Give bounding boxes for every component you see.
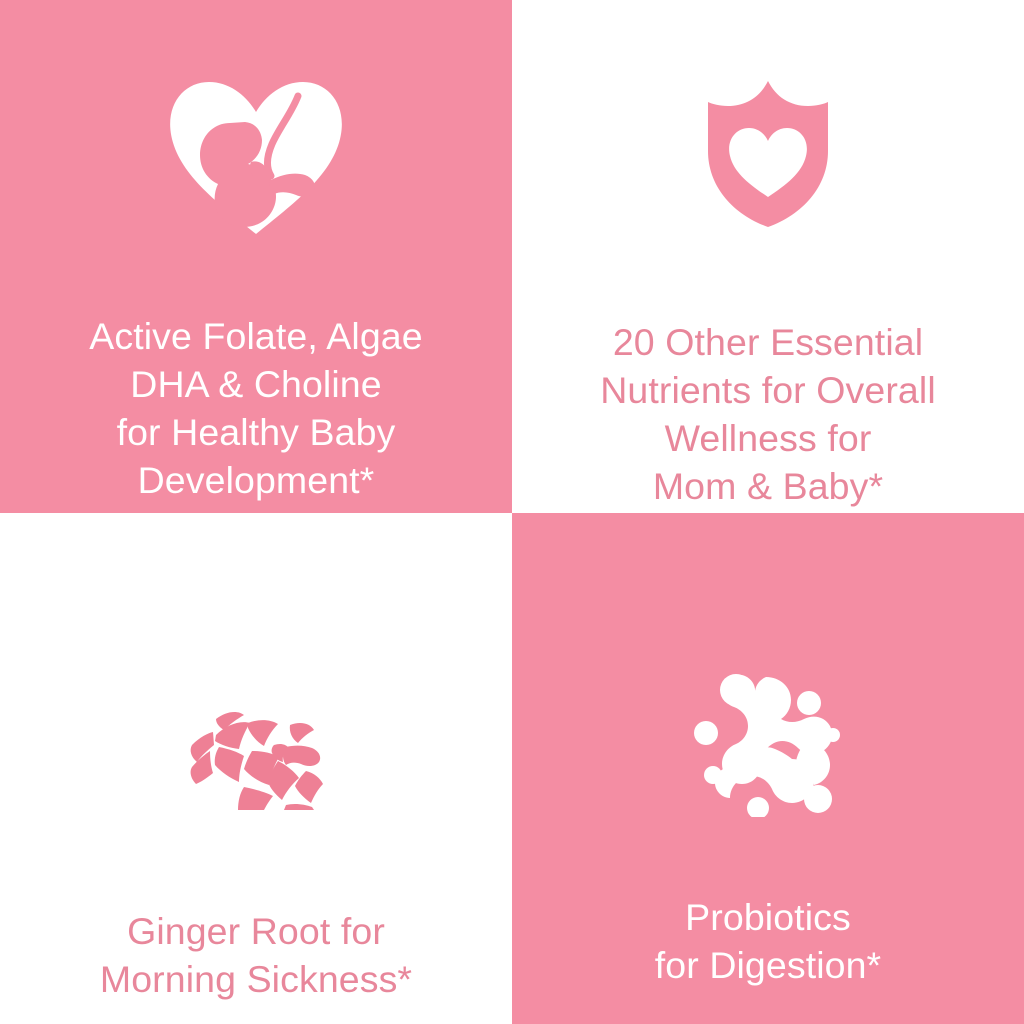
probiotics-bacteria-icon	[692, 665, 844, 817]
panel-caption: Active Folate, Algae DHA & Choline for H…	[0, 312, 512, 504]
shield-with-heart-icon	[706, 79, 830, 229]
panel-caption: Ginger Root for Morning Sickness*	[0, 907, 512, 1003]
benefits-infographic: Active Folate, Algae DHA & Choline for H…	[0, 0, 1024, 1024]
shield-with-heart-icon-wrap	[512, 0, 1024, 304]
panel-folate-dha-choline: Active Folate, Algae DHA & Choline for H…	[0, 0, 512, 513]
panel-probiotics: Probiotics for Digestion*	[512, 513, 1024, 1024]
probiotics-bacteria-icon-wrap	[512, 513, 1024, 891]
panel-essential-nutrients: 20 Other Essential Nutrients for Overall…	[512, 0, 1024, 513]
heart-with-fetus-icon-wrap	[0, 0, 512, 306]
panel-ginger-root: Ginger Root for Morning Sickness*	[0, 513, 512, 1024]
ginger-root-icon	[186, 699, 326, 811]
ginger-root-icon-wrap	[0, 513, 512, 905]
heart-with-fetus-icon	[167, 76, 345, 236]
panel-caption: 20 Other Essential Nutrients for Overall…	[512, 318, 1024, 510]
panel-caption: Probiotics for Digestion*	[512, 893, 1024, 989]
